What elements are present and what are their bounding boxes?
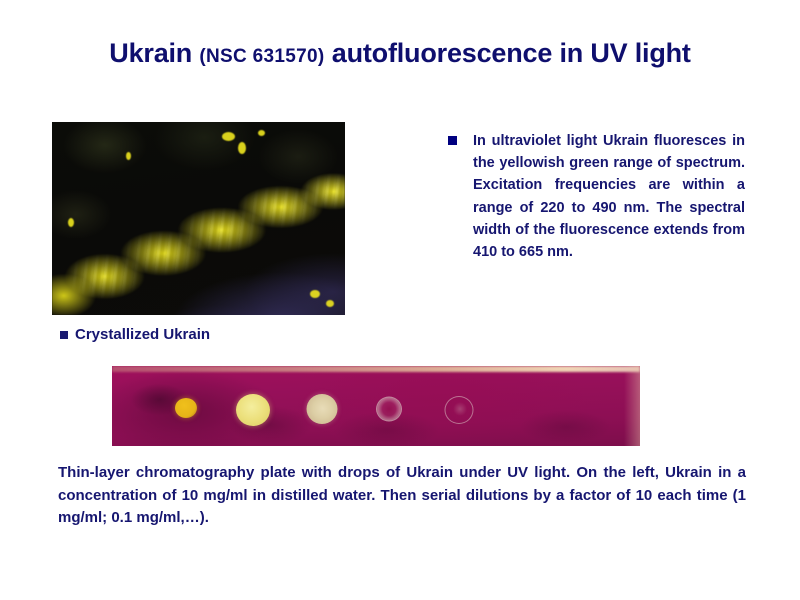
micrograph-speck xyxy=(126,152,131,160)
title-main-before: Ukrain xyxy=(109,38,199,68)
tlc-spot-5 xyxy=(445,396,474,424)
tlc-spot-2 xyxy=(236,394,270,426)
micrograph-speck xyxy=(326,300,334,307)
micrograph-crystal-striations xyxy=(52,122,345,315)
bullet-item-text: In ultraviolet light Ukrain fluoresces i… xyxy=(473,130,745,263)
tlc-plate-top-edge-glow xyxy=(112,366,640,372)
square-bullet-icon xyxy=(448,136,457,145)
micrograph-speck xyxy=(222,132,235,141)
title-compound-code: (NSC 631570) xyxy=(199,46,324,67)
crystal-caption-label: Crystallized Ukrain xyxy=(75,326,210,343)
bullet-list: In ultraviolet light Ukrain fluoresces i… xyxy=(448,130,748,263)
tlc-plate-image xyxy=(112,366,640,446)
micrograph-speck xyxy=(238,142,246,154)
title-main-after: autofluorescence in UV light xyxy=(324,38,690,68)
tlc-spot-3 xyxy=(307,394,338,424)
crystal-image-caption: Crystallized Ukrain xyxy=(60,326,210,343)
tlc-spot-4 xyxy=(376,397,402,422)
micrograph-speck xyxy=(310,290,320,298)
tlc-spot-1 xyxy=(175,398,197,418)
crystallized-ukrain-image xyxy=(52,122,345,315)
micrograph-speck xyxy=(68,218,74,227)
micrograph-speck xyxy=(258,130,265,136)
list-item: In ultraviolet light Ukrain fluoresces i… xyxy=(448,130,748,263)
tlc-plate-caption: Thin-layer chromatography plate with dro… xyxy=(58,462,746,530)
square-bullet-icon xyxy=(60,331,68,339)
page-title: Ukrain (NSC 631570) autofluorescence in … xyxy=(0,38,800,69)
tlc-plate-right-edge-glow xyxy=(624,366,640,446)
slide-canvas: Ukrain (NSC 631570) autofluorescence in … xyxy=(0,0,800,600)
